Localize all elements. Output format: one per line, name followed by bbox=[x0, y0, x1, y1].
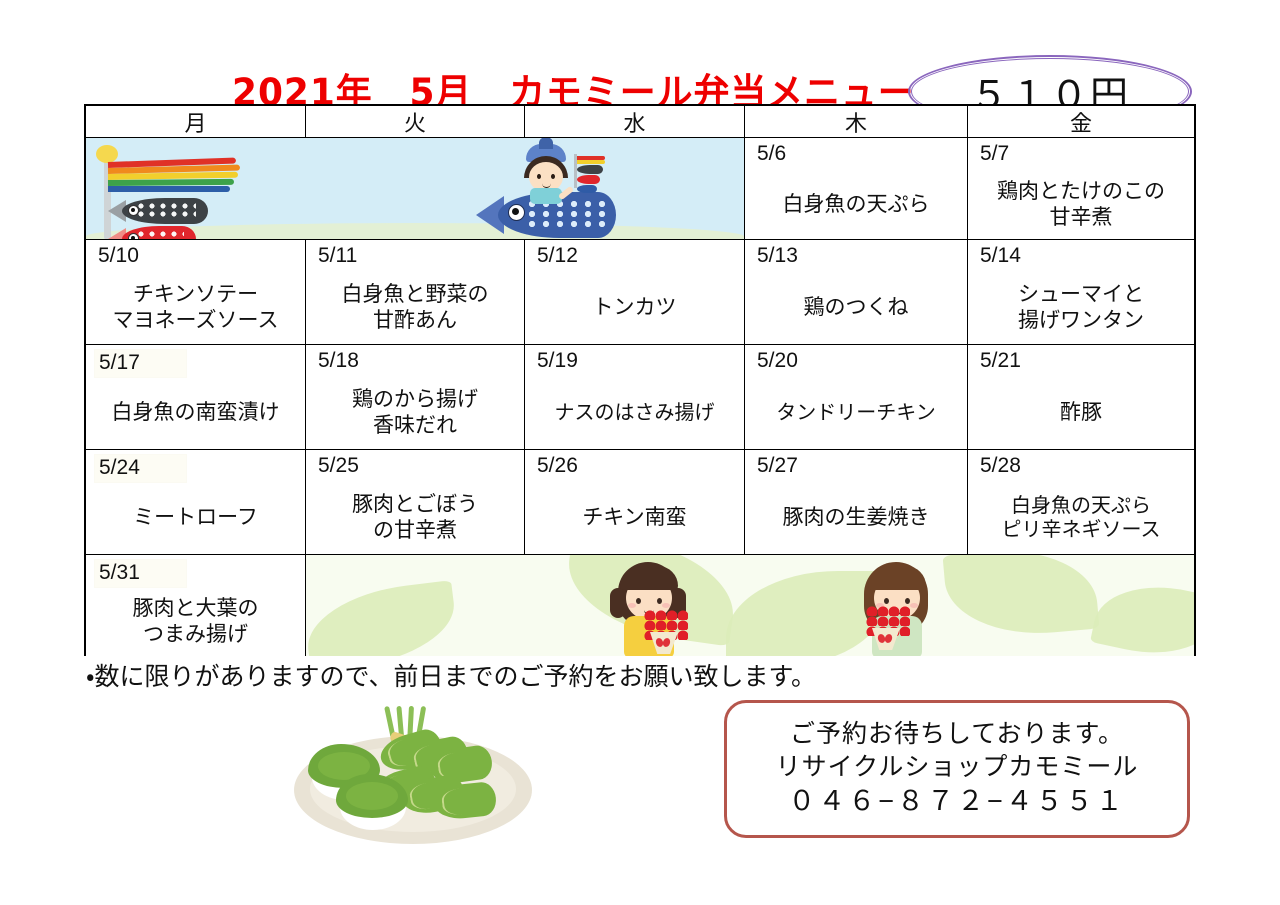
mini-carp-red bbox=[577, 175, 600, 184]
big-carp-eye bbox=[508, 204, 525, 221]
contact-greeting: ご予約お待ちしております。 bbox=[790, 718, 1124, 751]
boy-eye-right bbox=[551, 174, 555, 179]
kashiwa-mochi bbox=[336, 774, 412, 834]
boy-figure bbox=[512, 144, 582, 202]
day-date: 5/26 bbox=[537, 454, 578, 478]
weekday-header-fri: 金 bbox=[968, 106, 1194, 138]
day-date: 5/7 bbox=[980, 142, 1009, 166]
day-cell: 5/11 白身魚と野菜の 甘酢あん bbox=[306, 240, 525, 345]
girl-eye-left bbox=[636, 598, 641, 604]
girl-cheek-left bbox=[628, 603, 636, 608]
reservation-notice: ・数に限りがありますので、前日までのご予約をお願い致します。 bbox=[86, 657, 816, 693]
day-cell: 5/21 酢豚 bbox=[968, 345, 1194, 450]
kashiwamochi-chimaki-illustration bbox=[288, 700, 538, 850]
carp-red bbox=[108, 226, 196, 240]
day-dish: ナスのはさみ揚げ bbox=[525, 381, 744, 445]
carp-black bbox=[108, 198, 208, 224]
streamer-blue bbox=[108, 186, 230, 192]
mini-carp-black bbox=[577, 165, 603, 174]
boy-on-carp-illustration bbox=[476, 144, 646, 240]
day-date: 5/24 bbox=[94, 454, 187, 483]
girl-pigtail-left bbox=[610, 588, 626, 618]
koinobori-illustration bbox=[86, 138, 745, 240]
boy-eye-left bbox=[537, 174, 541, 179]
mini-carp-blue bbox=[577, 185, 597, 193]
day-dish: シューマイと 揚げワンタン bbox=[968, 276, 1194, 340]
day-cell: 5/7 鶏肉とたけのこの 甘辛煮 bbox=[968, 138, 1194, 240]
day-date: 5/12 bbox=[537, 244, 578, 268]
carp-eye bbox=[128, 205, 139, 216]
day-dish: 白身魚の天ぷら bbox=[745, 174, 967, 235]
contact-phone: ０４６−８７２−４５５１ bbox=[788, 784, 1126, 820]
day-dish: トンカツ bbox=[525, 276, 744, 340]
day-cell: 5/6 白身魚の天ぷら bbox=[745, 138, 968, 240]
carnation-bouquet bbox=[866, 606, 912, 650]
girl-with-carnations bbox=[602, 560, 694, 656]
weekday-header-tue: 火 bbox=[306, 106, 525, 138]
mother-eye-right bbox=[905, 598, 910, 604]
day-date: 5/31 bbox=[94, 559, 187, 588]
day-date: 5/21 bbox=[980, 349, 1021, 373]
carp-scales bbox=[138, 231, 184, 240]
day-date: 5/14 bbox=[980, 244, 1021, 268]
mother-eye-left bbox=[884, 598, 889, 604]
day-date: 5/27 bbox=[757, 454, 798, 478]
day-date: 5/13 bbox=[757, 244, 798, 268]
mini-koinobori-flag bbox=[574, 154, 608, 188]
weekday-header-thu: 木 bbox=[745, 106, 968, 138]
day-dish: 鶏のから揚げ 香味だれ bbox=[306, 381, 524, 445]
menu-poster: 2021年 5月 カモミール弁当メニュー ５１０円 月 火 水 木 金 bbox=[0, 0, 1280, 905]
mothers-day-illustration bbox=[306, 555, 1194, 656]
day-dish: タンドリーチキン bbox=[745, 381, 967, 445]
streamer-green bbox=[108, 179, 234, 186]
mother-with-carnations bbox=[850, 560, 942, 656]
weekday-header-mon: 月 bbox=[86, 106, 306, 138]
carp-scales bbox=[138, 203, 196, 219]
day-cell: 5/18 鶏のから揚げ 香味だれ bbox=[306, 345, 525, 450]
menu-calendar: 月 火 水 木 金 bbox=[84, 104, 1196, 656]
boy-shirt bbox=[530, 188, 562, 204]
day-cell: 5/17 白身魚の南蛮漬け bbox=[86, 345, 306, 450]
oak-leaf bbox=[336, 774, 408, 818]
day-cell: 5/31 豚肉と大葉の つまみ揚げ bbox=[86, 555, 306, 656]
big-carp-scales bbox=[528, 200, 610, 230]
bouquet-ribbon bbox=[656, 638, 670, 647]
day-dish: 白身魚と野菜の 甘酢あん bbox=[306, 276, 524, 340]
day-dish: 鶏のつくね bbox=[745, 276, 967, 340]
day-date: 5/10 bbox=[98, 244, 139, 268]
carp-eye bbox=[128, 233, 139, 240]
day-cell: 5/12 トンカツ bbox=[525, 240, 745, 345]
day-date: 5/18 bbox=[318, 349, 359, 373]
girl-cheek-right bbox=[662, 603, 670, 608]
day-cell: 5/13 鶏のつくね bbox=[745, 240, 968, 345]
day-dish: 豚肉と大葉の つまみ揚げ bbox=[86, 591, 305, 652]
day-date: 5/25 bbox=[318, 454, 359, 478]
day-cell: 5/28 白身魚の天ぷら ピリ辛ネギソース bbox=[968, 450, 1194, 555]
day-dish: 豚肉とごぼう の甘辛煮 bbox=[306, 486, 524, 550]
contact-box: ご予約お待ちしております。 リサイクルショップカモミール ０４６−８７２−４５５… bbox=[724, 700, 1190, 838]
leaf-shape bbox=[306, 580, 460, 656]
bouquet-ribbon bbox=[878, 634, 892, 643]
day-date: 5/11 bbox=[318, 244, 357, 268]
day-cell: 5/24 ミートローフ bbox=[86, 450, 306, 555]
day-cell: 5/27 豚肉の生姜焼き bbox=[745, 450, 968, 555]
day-date: 5/19 bbox=[537, 349, 578, 373]
day-date: 5/6 bbox=[757, 142, 786, 166]
pole-ball-icon bbox=[96, 145, 118, 163]
day-dish: チキンソテー マヨネーズソース bbox=[86, 276, 305, 340]
leaf-shape bbox=[943, 555, 1100, 641]
day-dish: ミートローフ bbox=[86, 486, 305, 550]
mini-streamer-yellow bbox=[577, 160, 605, 164]
day-dish: 白身魚の天ぷら ピリ辛ネギソース bbox=[968, 486, 1194, 550]
day-cell: 5/20 タンドリーチキン bbox=[745, 345, 968, 450]
day-date: 5/28 bbox=[980, 454, 1021, 478]
day-dish: 白身魚の南蛮漬け bbox=[86, 381, 305, 445]
leaf-shape bbox=[1090, 573, 1194, 656]
day-cell: 5/14 シューマイと 揚げワンタン bbox=[968, 240, 1194, 345]
mother-bangs bbox=[868, 566, 926, 590]
contact-shop-name: リサイクルショップカモミール bbox=[776, 751, 1139, 784]
title-row: 2021年 5月 カモミール弁当メニュー ５１０円 bbox=[0, 28, 1280, 98]
day-dish: 酢豚 bbox=[968, 381, 1194, 445]
day-cell: 5/19 ナスのはさみ揚げ bbox=[525, 345, 745, 450]
day-cell: 5/26 チキン南蛮 bbox=[525, 450, 745, 555]
day-cell: 5/25 豚肉とごぼう の甘辛煮 bbox=[306, 450, 525, 555]
day-dish: 豚肉の生姜焼き bbox=[745, 486, 967, 550]
day-date: 5/17 bbox=[94, 349, 187, 378]
weekday-header-wed: 水 bbox=[525, 106, 745, 138]
carnation-bouquet bbox=[644, 610, 690, 654]
girl-eye-right bbox=[657, 598, 662, 604]
girl-bangs bbox=[620, 566, 678, 590]
boy-arm bbox=[558, 186, 574, 201]
day-dish: チキン南蛮 bbox=[525, 486, 744, 550]
day-cell: 5/10 チキンソテー マヨネーズソース bbox=[86, 240, 306, 345]
day-date: 5/20 bbox=[757, 349, 798, 373]
day-dish: 鶏肉とたけのこの 甘辛煮 bbox=[968, 174, 1194, 235]
